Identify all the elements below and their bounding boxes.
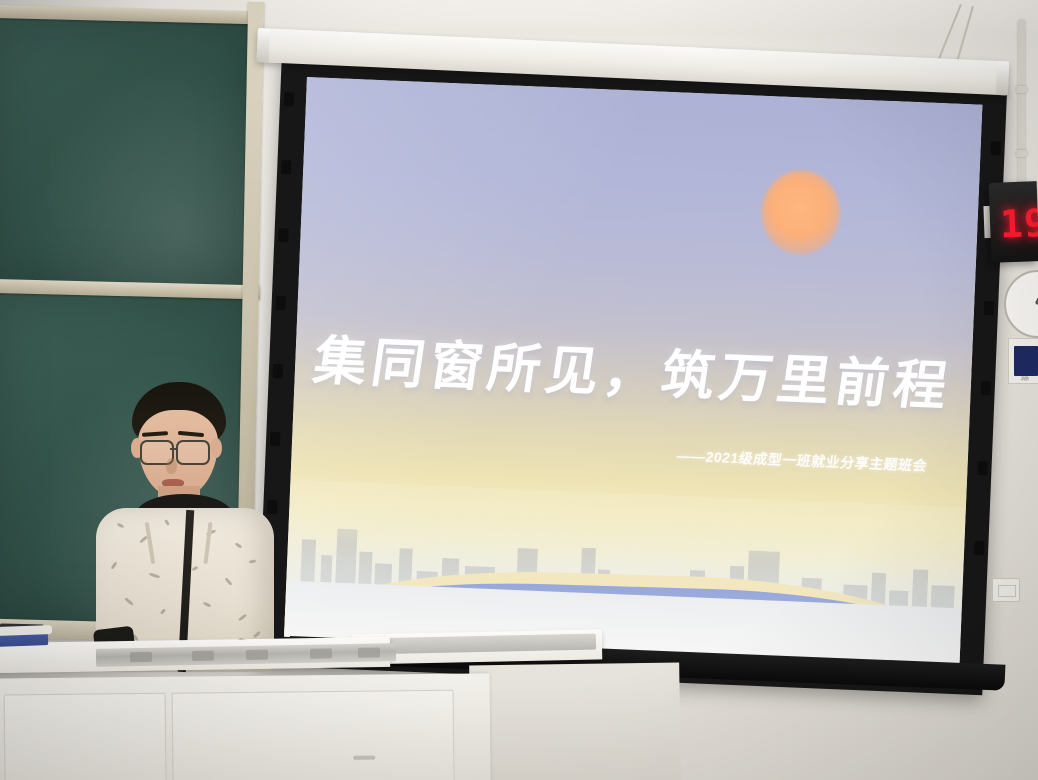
screen-notch: [977, 461, 988, 475]
cabinet-door-right[interactable]: [172, 690, 455, 780]
wall-sign-caption: 消防: [1008, 376, 1038, 382]
screen-notch: [275, 296, 286, 310]
sun-icon: [760, 169, 841, 256]
led-clock-digits: 19: [999, 201, 1038, 247]
screen-notch: [284, 92, 295, 106]
chalkboard-sheen: [0, 17, 254, 293]
cabinet-door-left[interactable]: [4, 693, 167, 780]
screen-notch: [990, 141, 1001, 155]
lectern-cabinet[interactable]: [0, 673, 491, 780]
slide-title: 集同窗所见，筑万里前程: [290, 318, 977, 421]
side-cabinet: [469, 663, 681, 780]
screen-notch: [974, 541, 985, 555]
ceiling-strip: [250, 0, 1038, 36]
wall-sign-badge: [1014, 346, 1038, 376]
wall-conduit-clip: [1016, 86, 1027, 93]
housing-endcap-right: [996, 61, 1010, 96]
led-clock: 19: [989, 181, 1038, 263]
screen-notch: [984, 301, 995, 315]
glasses-lens-right: [176, 440, 210, 465]
screen-notch: [981, 381, 992, 395]
projector-screen-border: 集同窗所见，筑万里前程 ——2021级成型一班就业分享主题班会: [257, 52, 1008, 695]
chalkboard-upper-panel: [0, 17, 254, 293]
ear-right: [210, 438, 222, 458]
presenter: [86, 382, 286, 672]
nose: [166, 458, 177, 474]
classroom-photo: 集同窗所见，筑万里前程 ——2021级成型一班就业分享主题班会 19 消防: [0, 0, 1038, 780]
wall-conduit-vertical: [1018, 20, 1025, 190]
wall-outlet-slot: [998, 585, 1016, 597]
wall-conduit-clip-2: [1016, 150, 1027, 157]
housing-endcap-left: [256, 28, 270, 63]
screen-notch: [278, 228, 289, 242]
presentation-slide: 集同窗所见，筑万里前程 ——2021级成型一班就业分享主题班会: [284, 77, 982, 664]
wall-outlet[interactable]: [992, 578, 1020, 602]
glasses-bridge: [170, 448, 178, 450]
screen-notch: [281, 160, 292, 174]
screen-notch: [273, 364, 284, 378]
cabinet-handle[interactable]: [353, 756, 375, 760]
projection-surface: 集同窗所见，筑万里前程 ——2021级成型一班就业分享主题班会: [284, 77, 982, 664]
slide-subtitle: ——2021级成型一班就业分享主题班会: [675, 445, 929, 475]
